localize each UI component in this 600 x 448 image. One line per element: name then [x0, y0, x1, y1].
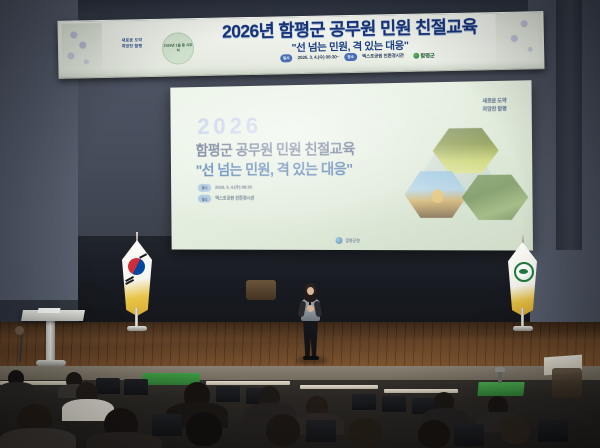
audience-shoulders [86, 432, 162, 448]
slide-date-row: 일시 2026. 3. 4.(수) 08:30 [198, 184, 254, 192]
floor-mic-head-icon [15, 326, 24, 335]
audience-head [500, 416, 530, 444]
slide-photo-collage [402, 125, 524, 228]
slide-footer-text: 함평군청 [345, 238, 359, 244]
right-pillar [556, 0, 582, 250]
audience-seat [306, 420, 336, 442]
county-flag-stand-stem [521, 308, 524, 328]
speaker-shoes [303, 356, 319, 360]
audience-seat [352, 394, 376, 410]
korean-flag-stand-stem [135, 308, 138, 328]
audience-head [186, 412, 222, 446]
speaker-face [307, 287, 314, 295]
projection-screen: 2026 함평군 공무원 민원 친절교육 "선 넘는 민원, 격 있는 대응" … [170, 80, 533, 250]
slide-title-line2: "선 넘는 민원, 격 있는 대응" [196, 158, 353, 180]
audience-desk [206, 381, 290, 385]
event-banner: 새로운 도약 희망찬 함평 2026년 1월 중 시무식 2026년 함평군 공… [57, 11, 544, 79]
audience-seat [454, 424, 484, 446]
slide-year: 2026 [197, 112, 262, 140]
audience-front-floor [0, 366, 600, 380]
audience-seat [124, 379, 148, 395]
banner-date-chip: 일시 [280, 54, 293, 62]
speaker-hands [307, 305, 314, 312]
banner-date-text: 2026. 3. 4.(수) 08:30~ [298, 54, 340, 61]
slide-title-line1: 함평군 공무원 민원 친절교육 [195, 138, 355, 161]
banner-county-logo: 함평군 [413, 51, 435, 59]
desk-lamp-icon [498, 370, 502, 383]
audience-seat [152, 414, 182, 436]
audience-head [266, 414, 300, 446]
slide-footer-emblem-icon [335, 237, 342, 244]
audience-head [348, 418, 382, 448]
slide-slogan-line2: 희망찬 함평 [482, 105, 506, 114]
audience-desk [300, 385, 378, 389]
rear-wooden-chair [552, 368, 582, 398]
podium-papers [37, 308, 60, 313]
banner-left-slogan-line2: 희망찬 함평 [102, 43, 162, 50]
audience-seat [96, 378, 120, 394]
banner-venue-text: 엑스포공원 친환경시관 [362, 53, 404, 60]
audience-seat [216, 386, 240, 402]
county-flag-emblem-icon [514, 262, 534, 282]
banner-county-name: 함평군 [420, 51, 434, 59]
county-emblem-icon [413, 53, 419, 59]
audience-seat [382, 396, 406, 412]
korean-flag-stand-base [127, 326, 147, 331]
audience-shoulders [0, 382, 34, 396]
stage-side-chair [246, 280, 276, 300]
photo-scene: 새로운 도약 희망찬 함평 2026년 1월 중 시무식 2026년 함평군 공… [0, 0, 600, 448]
audience-head [418, 420, 450, 448]
slide-slogan: 새로운 도약 희망찬 함평 [482, 97, 506, 114]
floral-decoration-left-icon [62, 23, 103, 76]
slide-footer: 함평군청 [335, 237, 359, 244]
county-flag-stand-base [513, 326, 533, 331]
slide-date-chip: 일시 [198, 184, 212, 192]
stage-floor-shadow [0, 322, 600, 340]
banner-left-slogan: 새로운 도약 희망찬 함평 [102, 37, 162, 50]
banner-venue-chip: 장소 [344, 53, 357, 61]
slide-date-text: 2026. 3. 4.(수) 08:30 [215, 184, 252, 190]
slide-venue-chip: 장소 [198, 195, 212, 203]
audience-shoulders [0, 428, 76, 448]
slide-meta: 일시 2026. 3. 4.(수) 08:30 장소 엑스포공원 친환경시관 [198, 184, 255, 203]
slide-venue-text: 엑스포공원 친환경시관 [215, 196, 254, 202]
green-table-right [477, 382, 524, 396]
slide-venue-row: 장소 엑스포공원 친환경시관 [198, 195, 254, 203]
audience-seat [538, 420, 568, 442]
podium-stem [46, 320, 55, 362]
